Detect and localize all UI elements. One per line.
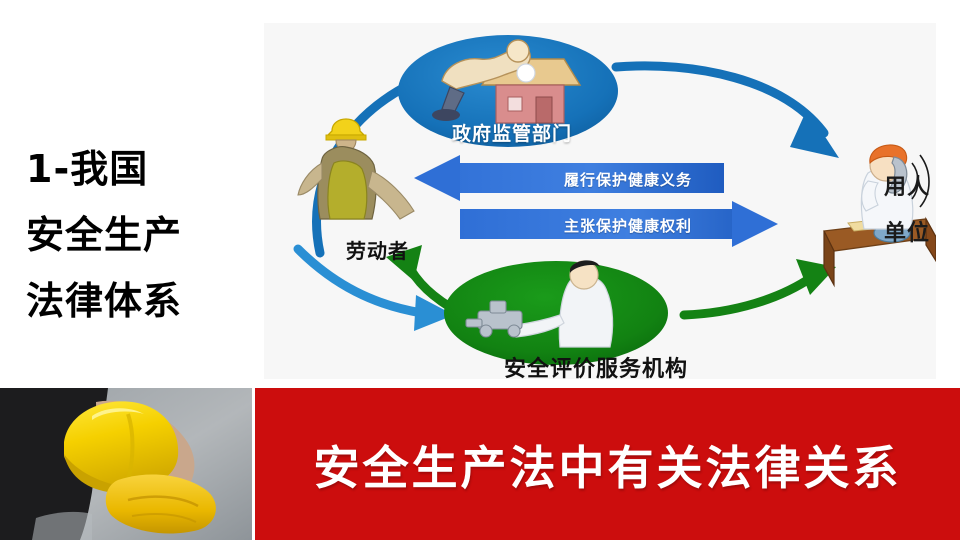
node-label-assessment-agency: 安全评价服务机构 [504,351,688,379]
slide-root: 1-我国 安全生产 法律体系 [0,0,960,540]
photo-canvas [0,388,252,540]
banner-title: 安全生产法中有关法律关系 [255,432,960,498]
hard-hat-photo [0,388,252,540]
edge-label-duty: 履行保护健康义务 [564,169,692,190]
page-title: 1-我国 安全生产 法律体系 [26,150,251,320]
relationship-diagram: 政府监管部门 劳动者 用人 单位 安全评价服务机构 履行保护健康义务 主张保护健… [264,23,936,379]
node-label-worker: 劳动者 [346,235,409,264]
title-line-1: 1-我国 [26,150,251,188]
edge-label-rights: 主张保护健康权利 [564,215,692,236]
node-label-employer-line-2: 单位 [884,215,930,247]
node-label-government: 政府监管部门 [452,119,572,146]
edge-agency-to-employer [684,259,836,315]
title-line-3: 法律体系 [26,282,251,320]
title-line-2: 安全生产 [26,216,251,254]
diagram-canvas [264,23,936,379]
edge-government-to-employer [616,66,839,158]
node-label-employer-line-1: 用人 [884,169,930,201]
red-banner: 安全生产法中有关法律关系 [255,388,960,540]
